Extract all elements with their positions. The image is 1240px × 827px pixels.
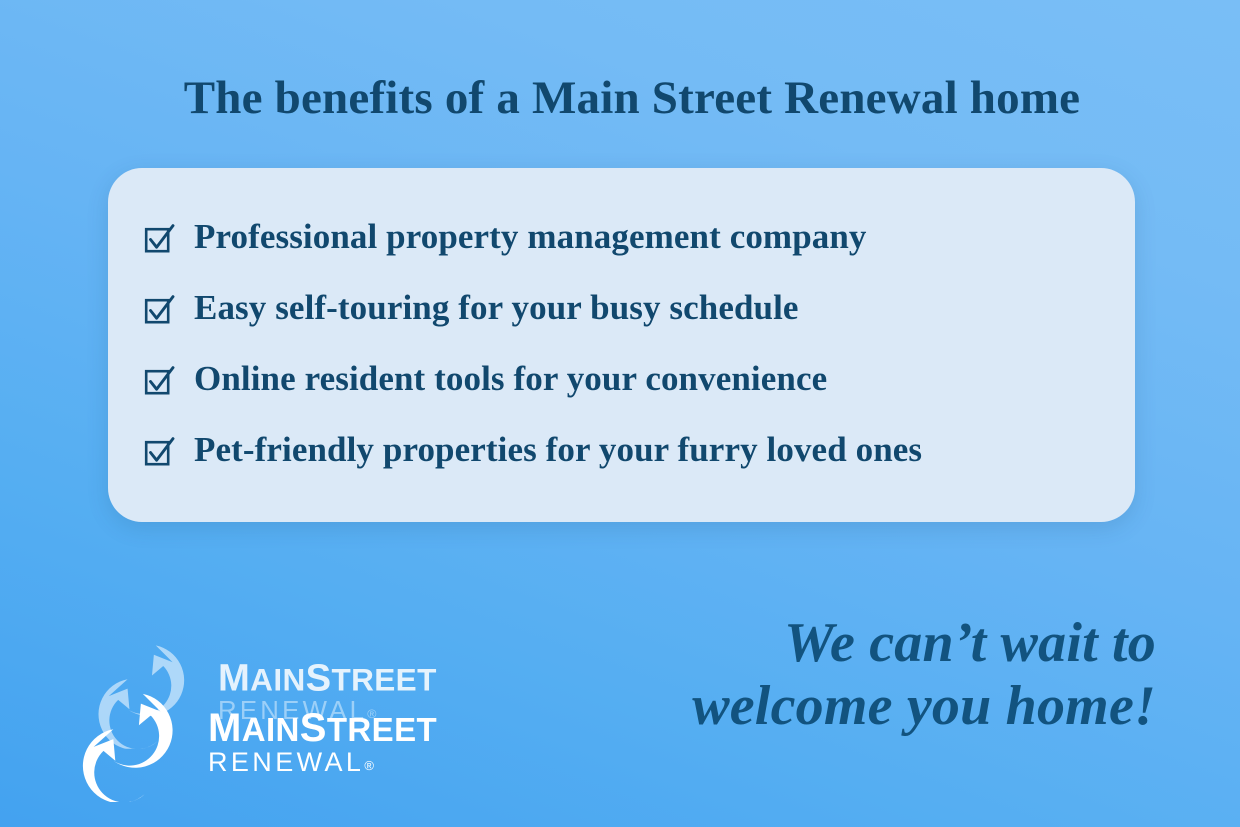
tagline: We can’t wait to welcome you home! bbox=[536, 612, 1156, 737]
page-title: The benefits of a Main Street Renewal ho… bbox=[102, 74, 1162, 123]
brand-logo: MAINSTREET RENEWAL® MAINSTREET RENEWAL® bbox=[44, 628, 544, 788]
list-item: Easy self-touring for your busy schedule bbox=[144, 273, 1115, 344]
checked-checkbox-icon bbox=[144, 295, 174, 325]
tagline-line-2: welcome you home! bbox=[536, 675, 1156, 738]
checked-checkbox-icon bbox=[144, 224, 174, 254]
benefits-card: Professional property management company… bbox=[108, 168, 1135, 522]
poster-canvas: The benefits of a Main Street Renewal ho… bbox=[0, 0, 1240, 827]
tagline-line-1: We can’t wait to bbox=[536, 612, 1156, 675]
checked-checkbox-icon bbox=[144, 366, 174, 396]
list-item: Online resident tools for your convenien… bbox=[144, 344, 1115, 415]
list-item-label: Pet-friendly properties for your furry l… bbox=[194, 431, 922, 470]
list-item-label: Online resident tools for your convenien… bbox=[194, 360, 827, 399]
list-item: Pet-friendly properties for your furry l… bbox=[144, 415, 1115, 486]
brand-wordmark-main: MAINSTREET bbox=[208, 706, 437, 750]
brand-wordmark-front: MAINSTREET RENEWAL® bbox=[208, 709, 544, 777]
list-item: Professional property management company bbox=[144, 202, 1115, 273]
checked-checkbox-icon bbox=[144, 437, 174, 467]
brand-logo-front-copy: MAINSTREET RENEWAL® bbox=[74, 684, 544, 802]
list-item-label: Easy self-touring for your busy schedule bbox=[194, 289, 799, 328]
interlocking-loops-icon bbox=[74, 684, 192, 802]
benefits-list: Professional property management company… bbox=[144, 202, 1115, 486]
list-item-label: Professional property management company bbox=[194, 218, 867, 257]
brand-wordmark-sub: RENEWAL® bbox=[208, 747, 374, 777]
